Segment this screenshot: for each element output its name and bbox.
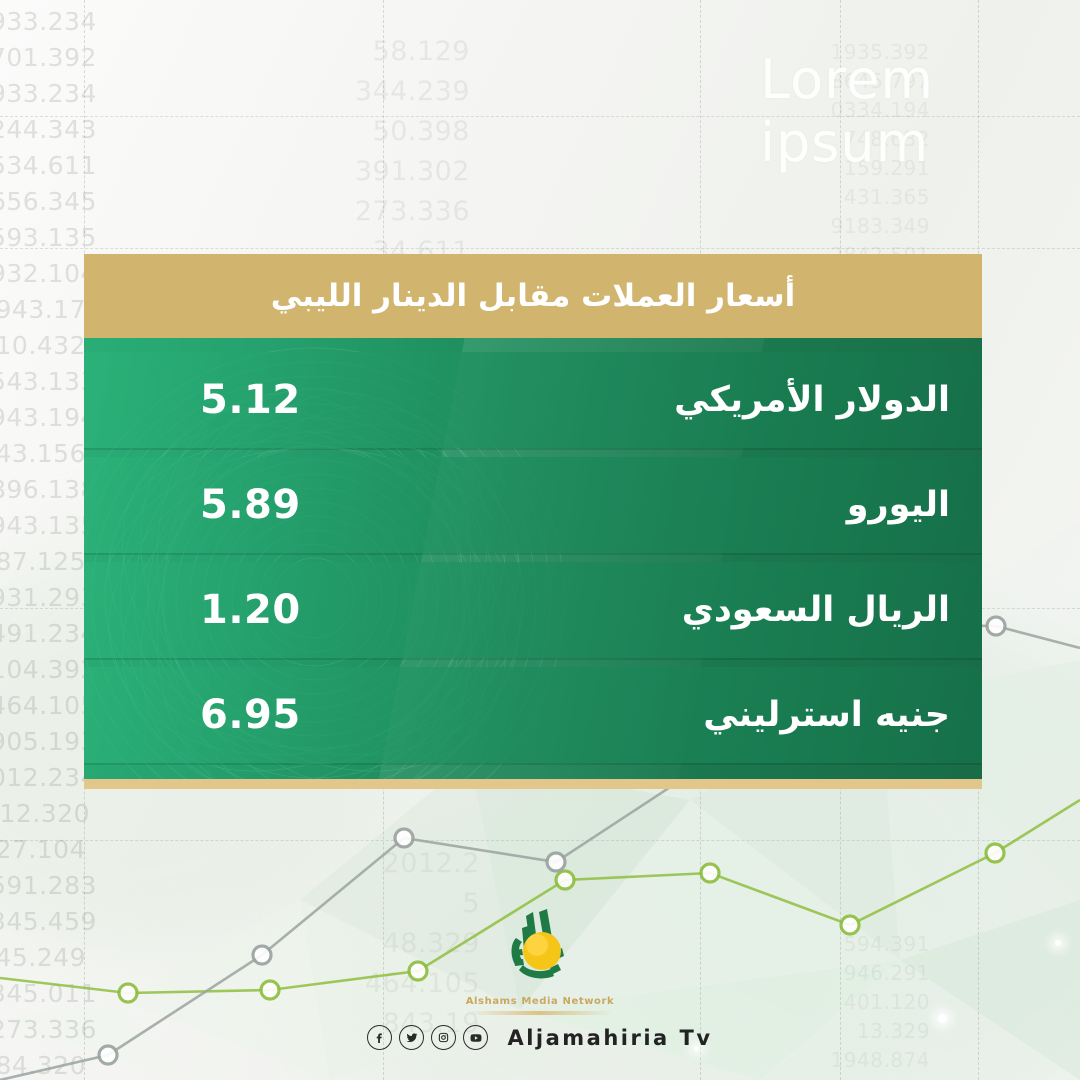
- background-number: 273.336: [300, 192, 470, 232]
- background-number: 50.398: [300, 112, 470, 152]
- background-number: 896.138: [0, 472, 86, 508]
- lorem-watermark: Lorem ipsum: [760, 48, 1080, 174]
- background-number: 933.234: [0, 76, 86, 112]
- rate-row: اليورو5.89: [84, 457, 982, 553]
- grid-line: [0, 840, 1080, 841]
- background-number: -12.320: [0, 796, 86, 832]
- currency-value: 6.95: [200, 692, 301, 738]
- rate-row: الدولار الأمريكي5.12: [84, 352, 982, 448]
- card-footer-strip: [84, 779, 982, 789]
- twitter-icon[interactable]: [399, 1025, 424, 1050]
- currency-value: 5.12: [200, 377, 301, 423]
- background-number: 2012.2: [300, 844, 480, 884]
- background-number: 943.194: [0, 400, 86, 436]
- logo-caption: Alshams Media Network: [466, 996, 615, 1007]
- footer-brand: Alshams Media Network Aljamahiria Tv: [0, 898, 1080, 1050]
- background-number: 9183.349: [760, 212, 930, 241]
- background-number: 491.234: [0, 616, 86, 652]
- background-number: 543.133: [0, 364, 86, 400]
- card-body: الدولار الأمريكي5.12اليورو5.89الريال الس…: [84, 338, 982, 779]
- rate-row: الريال السعودي1.20: [84, 562, 982, 658]
- background-number: 932.104: [0, 256, 86, 292]
- facebook-icon[interactable]: [367, 1025, 392, 1050]
- background-number: 1948.874: [760, 1046, 930, 1075]
- currency-value: 1.20: [200, 587, 301, 633]
- background-number: 391.302: [300, 152, 470, 192]
- background-number: 933.234: [0, 4, 86, 40]
- alshams-logo-icon: [492, 898, 588, 994]
- logo-divider: [467, 1011, 613, 1015]
- currency-value: 5.89: [200, 482, 301, 528]
- currency-name: جنيه استرليني: [703, 695, 950, 735]
- background-number: 244.343: [0, 112, 86, 148]
- background-number: 701.392: [0, 40, 86, 76]
- currency-name: اليورو: [847, 485, 950, 525]
- rate-row: جنيه استرليني6.95: [84, 667, 982, 763]
- page-title: أسعار العملات مقابل الدينار الليبي: [271, 278, 796, 314]
- background-number: 344.239: [300, 72, 470, 112]
- card-title-bar: أسعار العملات مقابل الدينار الليبي: [84, 254, 982, 338]
- background-number: 6932.905: [760, 1075, 930, 1080]
- background-number: 943.17: [0, 292, 86, 328]
- background-number: 43.156: [0, 436, 86, 472]
- youtube-icon[interactable]: [463, 1025, 488, 1050]
- background-number: 58.129: [300, 32, 470, 72]
- social-links: Aljamahiria Tv: [367, 1025, 712, 1050]
- background-number: 104.392: [0, 652, 86, 688]
- background-number: 012.234: [0, 760, 86, 796]
- currency-name: الريال السعودي: [682, 590, 950, 630]
- currency-rates-card: أسعار العملات مقابل الدينار الليبي: [84, 254, 982, 789]
- background-number: 10.432: [0, 328, 86, 364]
- background-number: 84.320: [0, 1048, 86, 1080]
- background-number: 943.135: [0, 508, 86, 544]
- background-number: 27.104: [0, 832, 86, 868]
- brand-name: Aljamahiria Tv: [507, 1026, 712, 1050]
- background-number-column: 58.129344.23950.398391.302273.33634.611: [300, 32, 470, 272]
- rates-list: الدولار الأمريكي5.12اليورو5.89الريال الس…: [84, 338, 982, 779]
- background-number: 905.193: [0, 724, 86, 760]
- currency-name: الدولار الأمريكي: [674, 380, 950, 420]
- instagram-icon[interactable]: [431, 1025, 456, 1050]
- background-number: 534.611: [0, 148, 86, 184]
- background-number: 593.135: [0, 220, 86, 256]
- background-number: 464.105: [0, 688, 86, 724]
- background-number: 656.345: [0, 184, 86, 220]
- background-number: 431.365: [760, 183, 930, 212]
- background-number: 87.125: [0, 544, 86, 580]
- background-number: 931.293: [0, 580, 86, 616]
